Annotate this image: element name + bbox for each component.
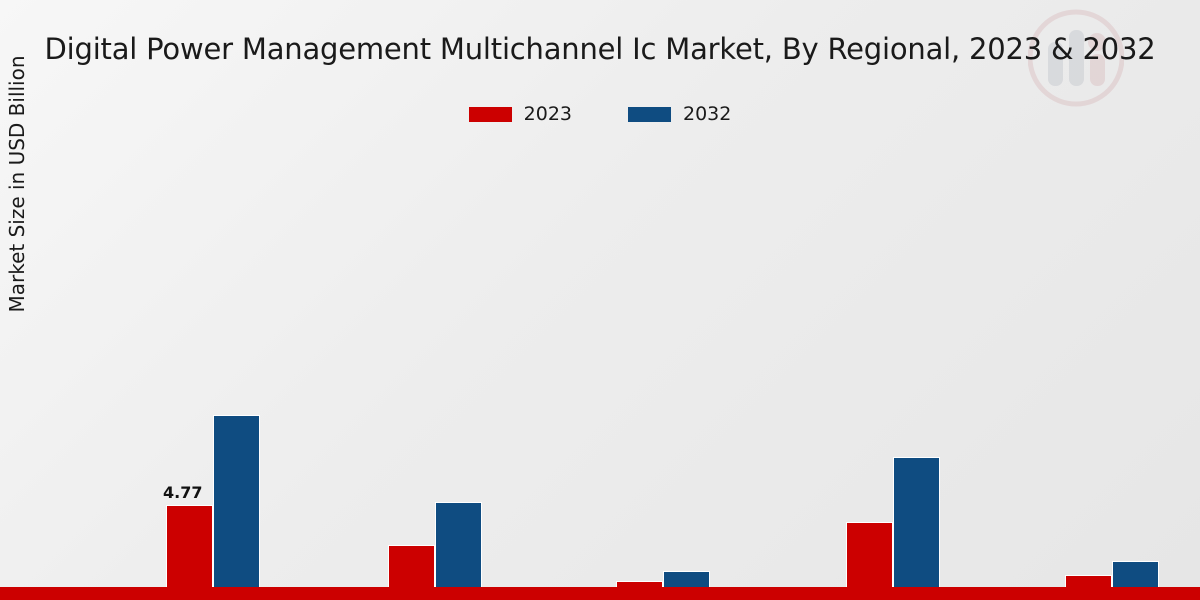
bar-2032-1[interactable] bbox=[435, 502, 482, 590]
bar-value-label: 4.77 bbox=[163, 483, 202, 502]
legend-item-2023[interactable]: 2023 bbox=[469, 103, 572, 125]
chart-figure: Digital Power Management Multichannel Ic… bbox=[0, 0, 1200, 600]
bar-2023-1[interactable] bbox=[388, 545, 435, 590]
bar-2032-0[interactable] bbox=[213, 415, 260, 590]
bar-2032-4[interactable] bbox=[1112, 561, 1159, 590]
legend-swatch-2032 bbox=[628, 107, 671, 122]
legend-label-2023: 2023 bbox=[524, 103, 572, 125]
legend-item-2032[interactable]: 2032 bbox=[628, 103, 731, 125]
bar-group bbox=[1064, 140, 1160, 590]
footer-bar bbox=[0, 587, 1200, 600]
legend-label-2032: 2032 bbox=[683, 103, 731, 125]
legend-swatch-2023 bbox=[469, 107, 512, 122]
bar-group bbox=[845, 140, 941, 590]
bar-group bbox=[387, 140, 483, 590]
bar-group bbox=[615, 140, 711, 590]
page-title: Digital Power Management Multichannel Ic… bbox=[0, 32, 1200, 66]
y-axis-title: Market Size in USD Billion bbox=[5, 19, 29, 349]
plot-area: NORTHAMERICAEUROPESOUTHAMERICAASIAPACIFI… bbox=[55, 140, 1195, 450]
bar-2023-3[interactable] bbox=[846, 522, 893, 590]
chart-legend: 2023 2032 bbox=[0, 103, 1200, 125]
bar-group bbox=[165, 140, 261, 590]
bar-2032-3[interactable] bbox=[893, 457, 940, 590]
bar-2023-0[interactable] bbox=[166, 505, 213, 590]
